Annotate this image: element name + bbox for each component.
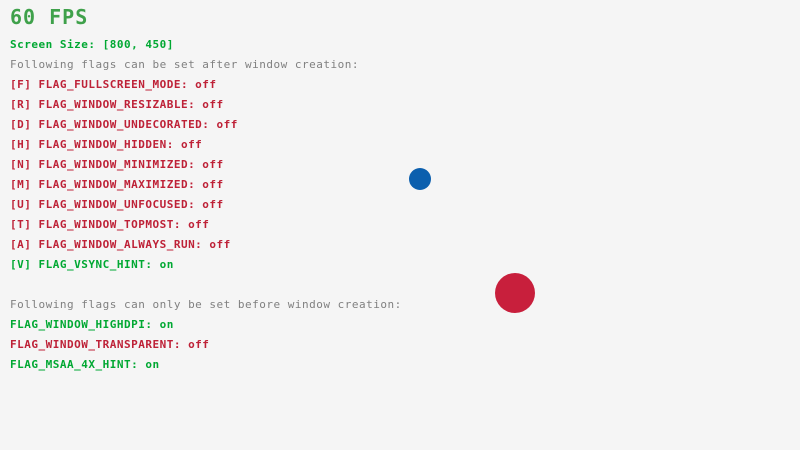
flag-row-window-maximized[interactable]: [M] FLAG_WINDOW_MAXIMIZED: off [10,178,224,191]
blue-ball-shape [409,168,431,190]
flag-row-fullscreen-mode[interactable]: [F] FLAG_FULLSCREEN_MODE: off [10,78,217,91]
fps-counter: 60 FPS [10,5,88,29]
flag-row-window-highdpi: FLAG_WINDOW_HIGHDPI: on [10,318,174,331]
flag-row-window-resizable[interactable]: [R] FLAG_WINDOW_RESIZABLE: off [10,98,224,111]
flag-row-window-always-run[interactable]: [A] FLAG_WINDOW_ALWAYS_RUN: off [10,238,231,251]
screen-size-label: Screen Size: [800, 450] [10,38,174,51]
raylib-window: 60 FPS Screen Size: [800, 450] Following… [0,0,800,450]
flag-row-window-unfocused[interactable]: [U] FLAG_WINDOW_UNFOCUSED: off [10,198,224,211]
flag-row-window-transparent: FLAG_WINDOW_TRANSPARENT: off [10,338,209,351]
flag-row-window-topmost[interactable]: [T] FLAG_WINDOW_TOPMOST: off [10,218,209,231]
flag-row-vsync-hint[interactable]: [V] FLAG_VSYNC_HINT: on [10,258,174,271]
flag-row-window-minimized[interactable]: [N] FLAG_WINDOW_MINIMIZED: off [10,158,224,171]
red-ball-shape [495,273,535,313]
runtime-flags-heading: Following flags can be set after window … [10,58,359,71]
flag-row-window-hidden[interactable]: [H] FLAG_WINDOW_HIDDEN: off [10,138,202,151]
creation-flags-heading: Following flags can only be set before w… [10,298,402,311]
flag-row-msaa-4x-hint: FLAG_MSAA_4X_HINT: on [10,358,160,371]
flag-row-window-undecorated[interactable]: [D] FLAG_WINDOW_UNDECORATED: off [10,118,238,131]
